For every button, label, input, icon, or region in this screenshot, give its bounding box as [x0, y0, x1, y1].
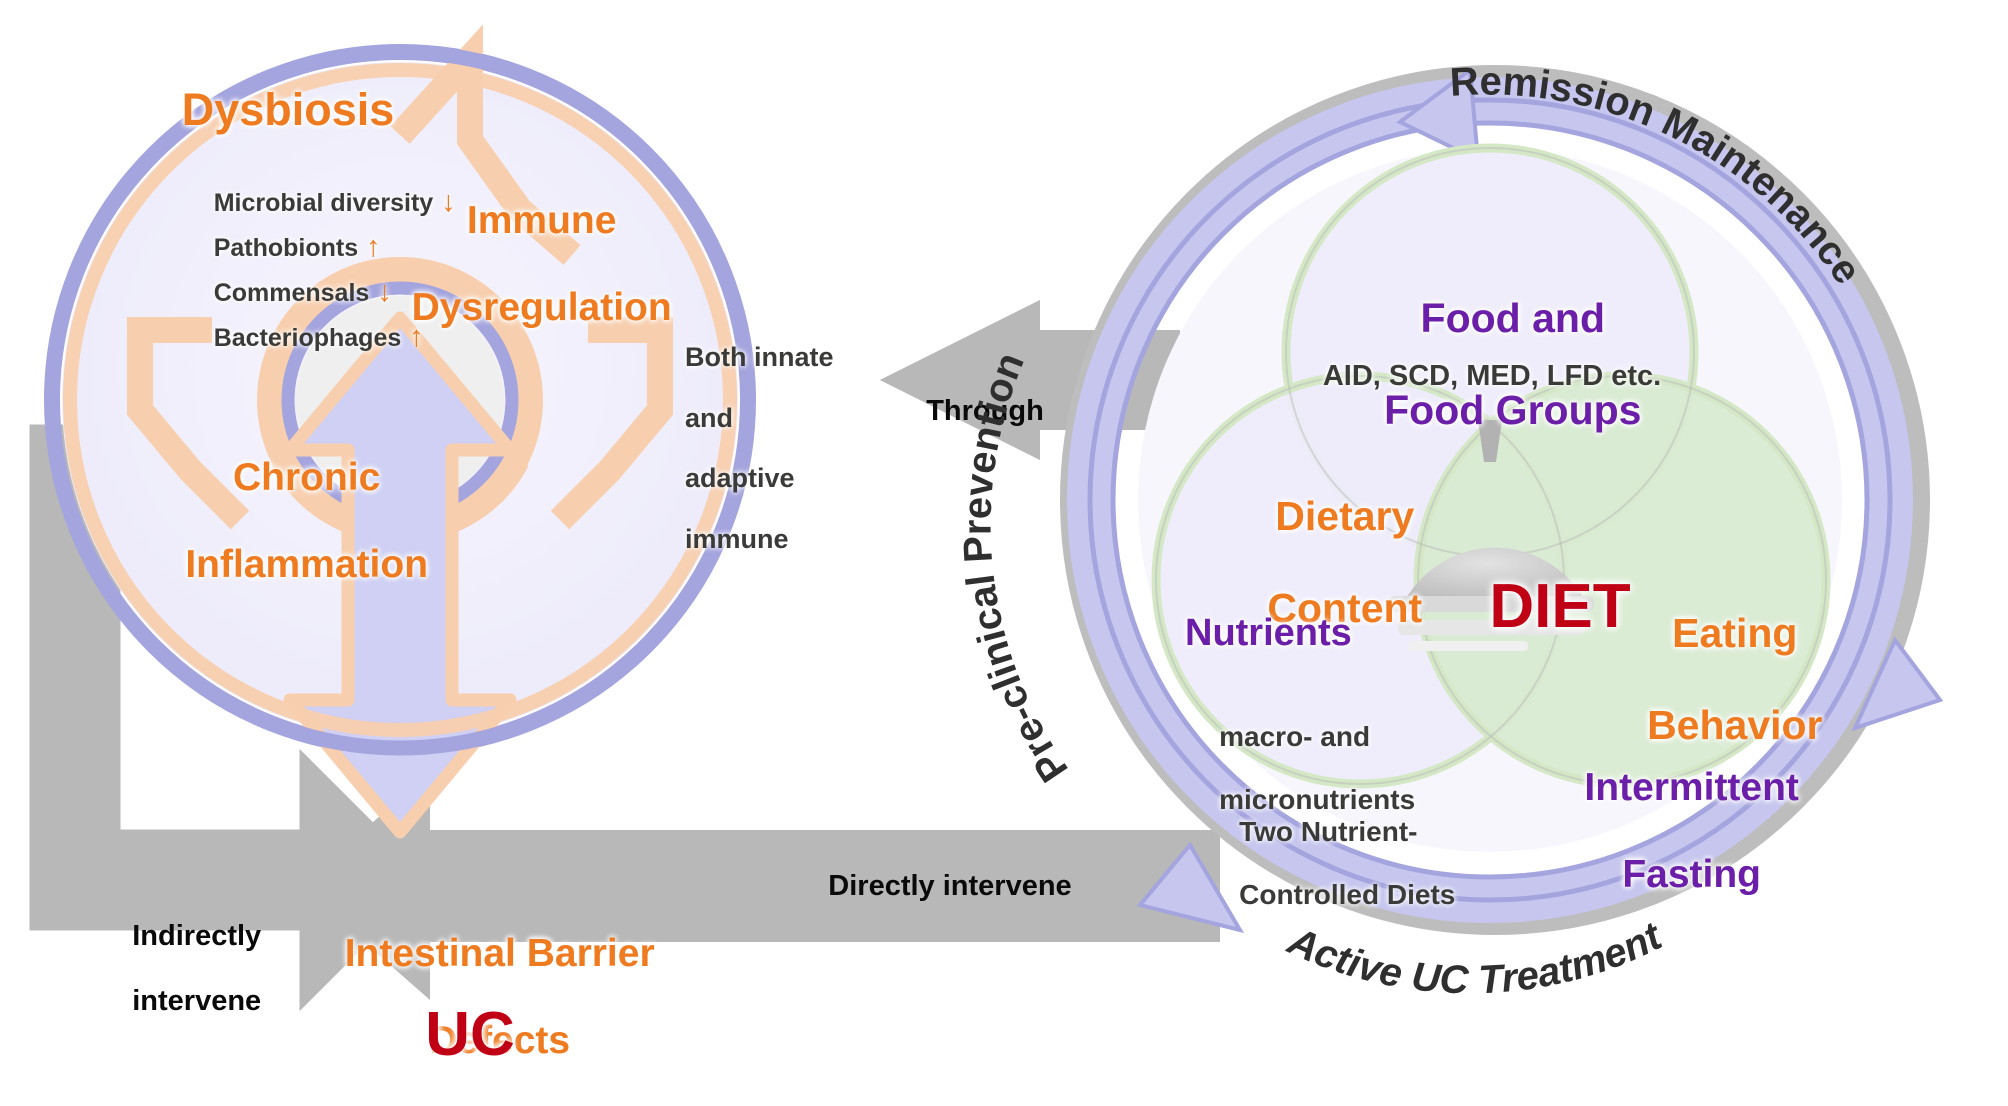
food-groups-l1: Food and — [1421, 295, 1605, 341]
nutrients-sub2-l2: Controlled Diets — [1239, 879, 1455, 910]
venn-sub-food-and-food-groups: AID, SCD, MED, LFD etc. — [1323, 360, 1661, 392]
food-groups-l2: Food Groups — [1384, 387, 1641, 433]
venn-title-intermittent-fasting: Intermittent Fasting — [1541, 722, 1799, 940]
intermittent-fasting-l1: Intermittent — [1584, 766, 1799, 809]
venn-title-nutrients: Nutrients — [1185, 612, 1352, 655]
figure-canvas: Dysbiosis Immune Dysregulation Chronic I… — [0, 0, 2008, 1090]
eating-behavior-l1: Eating — [1672, 610, 1797, 656]
intermittent-fasting-l2: Fasting — [1622, 853, 1761, 896]
nutrients-sub2-l1: Two Nutrient- — [1239, 816, 1417, 847]
venn-sub-nutrients-diets: Two Nutrient- Controlled Diets — [1208, 785, 1455, 942]
nutrients-sub-l1: macro- and — [1219, 721, 1370, 752]
arc-label-preclinical-prevention: Pre-clinical Prevention — [956, 347, 1077, 790]
dietary-content-l1: Dietary — [1275, 493, 1414, 539]
